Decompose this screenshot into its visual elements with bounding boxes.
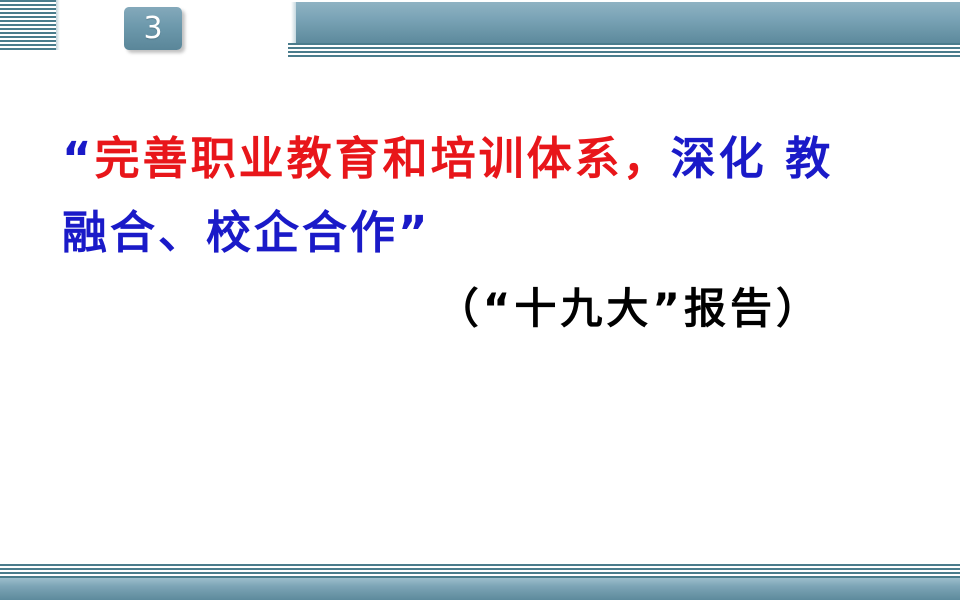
header-gradient-bar-right <box>296 2 960 43</box>
header-stripe-block-left <box>0 0 56 50</box>
quote-line-2: 融合、校企合作” <box>62 196 902 270</box>
quote-line-2-blue-text: 融合、校企合作 <box>62 206 398 259</box>
quote-line-1-red-text: 完善职业教育和培训体系， <box>95 132 671 185</box>
opening-quote-mark: “ <box>62 132 95 185</box>
quote-line-1-blue-text: 深化 教 <box>671 132 834 185</box>
slide-number-badge: 3 <box>124 7 182 50</box>
presentation-slide: 3 “完善职业教育和培训体系，深化 教 融合、校企合作” （“十九大”报告） <box>0 0 960 600</box>
source-attribution: （“十九大”报告） <box>62 278 902 340</box>
footer-stripe-block <box>0 564 960 578</box>
closing-quote-mark: ” <box>398 206 431 259</box>
footer-gradient-bar <box>0 578 960 600</box>
header-stripe-block-right <box>288 43 960 57</box>
quote-block: “完善职业教育和培训体系，深化 教 融合、校企合作” <box>62 122 902 270</box>
quote-line-1: “完善职业教育和培训体系，深化 教 <box>62 122 902 196</box>
